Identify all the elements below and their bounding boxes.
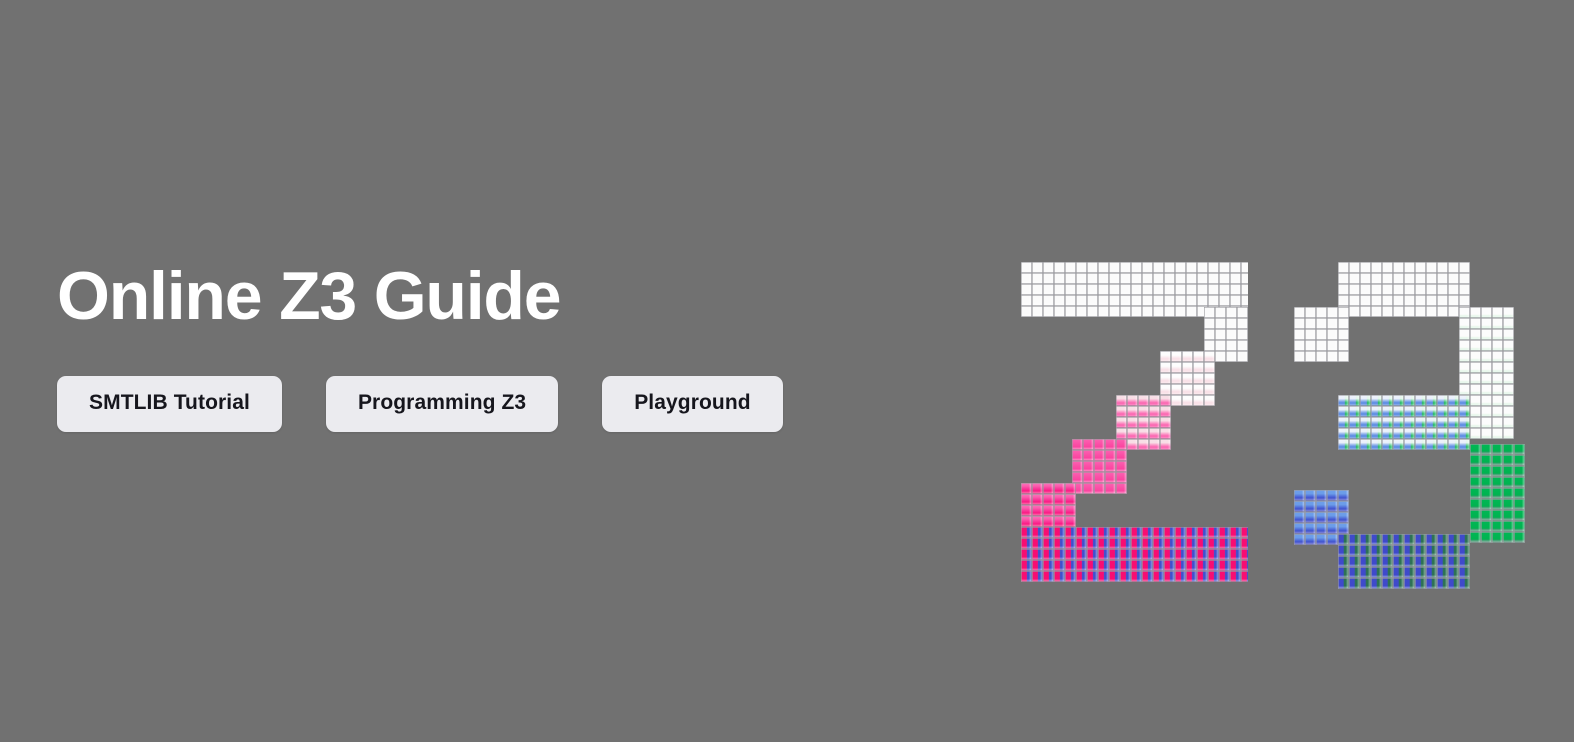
three-right-stem — [1470, 444, 1525, 543]
hero-section: Online Z3 Guide SMTLIB Tutorial Programm… — [0, 0, 1574, 742]
page-title: Online Z3 Guide — [57, 258, 987, 334]
z-bottom-bar — [1021, 527, 1248, 582]
programming-z3-button[interactable]: Programming Z3 — [326, 376, 558, 432]
three-bottom-bar — [1338, 534, 1470, 589]
three-top-bar — [1338, 262, 1470, 317]
playground-button[interactable]: Playground — [602, 376, 783, 432]
three-upper-left-nub — [1294, 307, 1349, 362]
hero-button-group: SMTLIB Tutorial Programming Z3 Playgroun… — [57, 376, 987, 432]
z-step-4 — [1072, 439, 1127, 494]
hero-content: Online Z3 Guide SMTLIB Tutorial Programm… — [57, 258, 987, 432]
smtlib-tutorial-button[interactable]: SMTLIB Tutorial — [57, 376, 282, 432]
z3-logo-art — [1021, 262, 1521, 592]
three-middle-bar — [1338, 395, 1470, 450]
